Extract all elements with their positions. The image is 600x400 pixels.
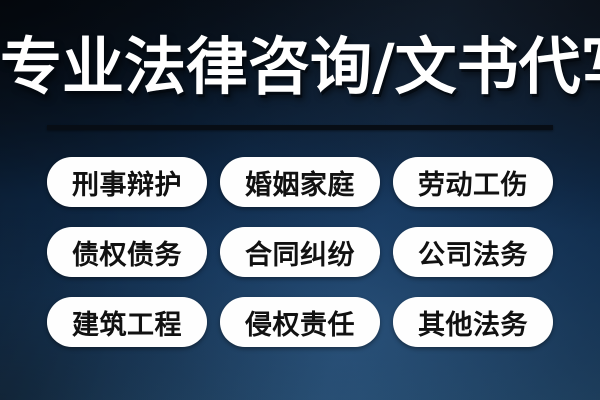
title-divider — [47, 125, 553, 130]
service-pill-row: 债权债务 合同纠纷 公司法务 — [47, 227, 553, 277]
legal-services-banner: 专业法律咨询/文书代写 刑事辩护 婚姻家庭 劳动工伤 债权债务 合同纠纷 公司法… — [0, 0, 600, 400]
service-pill-other-legal[interactable]: 其他法务 — [393, 297, 553, 347]
service-pill-row: 建筑工程 侵权责任 其他法务 — [47, 297, 553, 347]
service-pill-row: 刑事辩护 婚姻家庭 劳动工伤 — [47, 157, 553, 207]
banner-content: 专业法律咨询/文书代写 刑事辩护 婚姻家庭 劳动工伤 债权债务 合同纠纷 公司法… — [0, 0, 600, 400]
service-pill-marriage-family[interactable]: 婚姻家庭 — [220, 157, 380, 207]
service-pill-labor-injury[interactable]: 劳动工伤 — [393, 157, 553, 207]
service-pill-corporate-legal[interactable]: 公司法务 — [393, 227, 553, 277]
banner-headline: 专业法律咨询/文书代写 — [0, 29, 600, 105]
service-pill-grid: 刑事辩护 婚姻家庭 劳动工伤 债权债务 合同纠纷 公司法务 建筑工程 侵权责任 … — [47, 157, 553, 347]
service-pill-contract-dispute[interactable]: 合同纠纷 — [220, 227, 380, 277]
service-pill-creditor-debt[interactable]: 债权债务 — [47, 227, 207, 277]
service-pill-criminal-defense[interactable]: 刑事辩护 — [47, 157, 207, 207]
service-pill-construction[interactable]: 建筑工程 — [47, 297, 207, 347]
service-pill-tort-liability[interactable]: 侵权责任 — [220, 297, 380, 347]
